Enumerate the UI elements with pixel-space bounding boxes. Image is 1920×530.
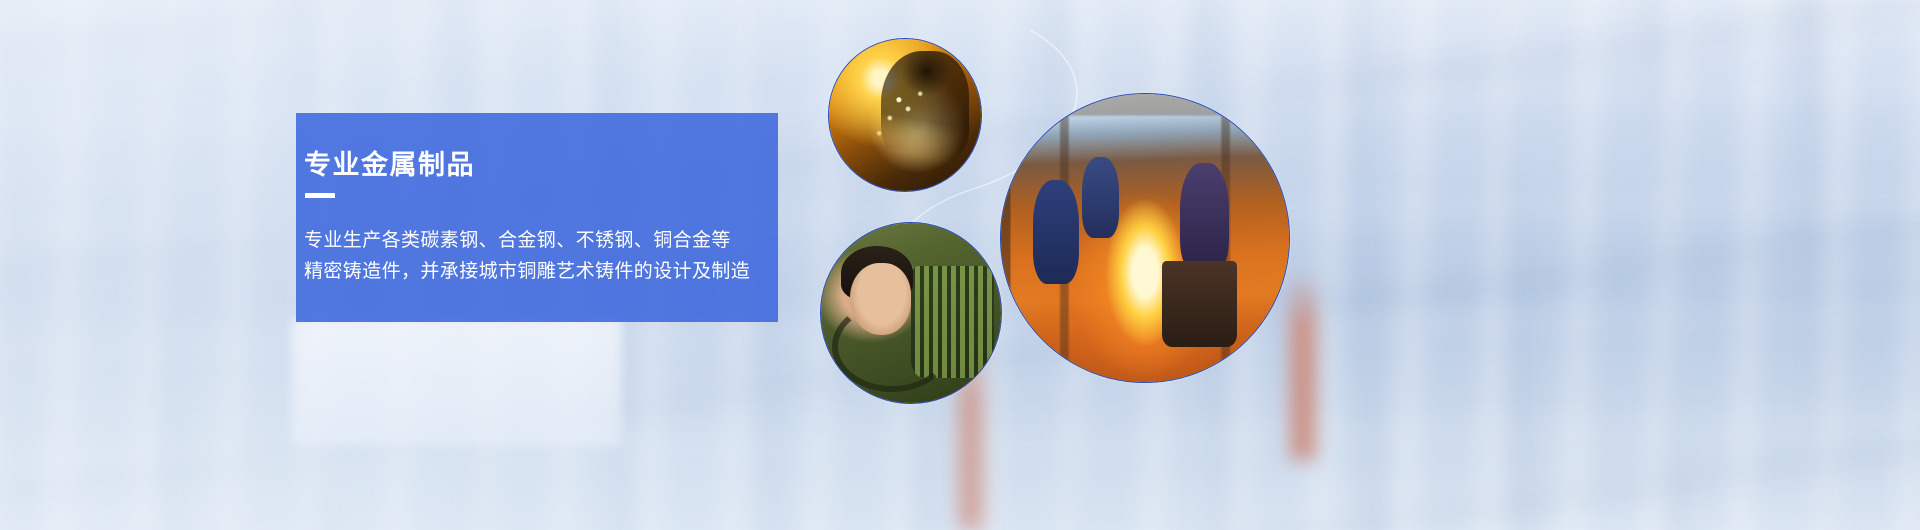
banner-description-line-2: 精密铸造件，并承接城市铜雕艺术铸件的设计及制造 [304,256,750,287]
foundry-worker-2 [1082,157,1119,238]
title-divider [305,193,335,198]
promo-text-layer: 专业金属制品 专业生产各类碳素钢、合金钢、不锈钢、铜合金等 精密铸造件，并承接城… [296,113,778,322]
banner-title: 专业金属制品 [304,143,1064,182]
worker-cable [832,301,952,392]
foundry-worker-3 [1180,163,1229,272]
worker-components-photo [820,222,1002,404]
banner-description-line-1: 专业生产各类碳素钢、合金钢、不锈钢、铜合金等 [304,225,750,256]
foundry-pour-photo [1000,93,1290,383]
background-orange-pole [1290,270,1316,460]
background-light-panel [292,318,622,446]
banner-description: 专业生产各类碳素钢、合金钢、不锈钢、铜合金等 精密铸造件，并承接城市铜雕艺术铸件… [304,225,750,287]
foundry-ladle [1162,261,1237,347]
hero-banner: 专业金属制品 专业生产各类碳素钢、合金钢、不锈钢、铜合金等 精密铸造件，并承接城… [0,0,1920,530]
foundry-worker-1 [1033,180,1079,284]
